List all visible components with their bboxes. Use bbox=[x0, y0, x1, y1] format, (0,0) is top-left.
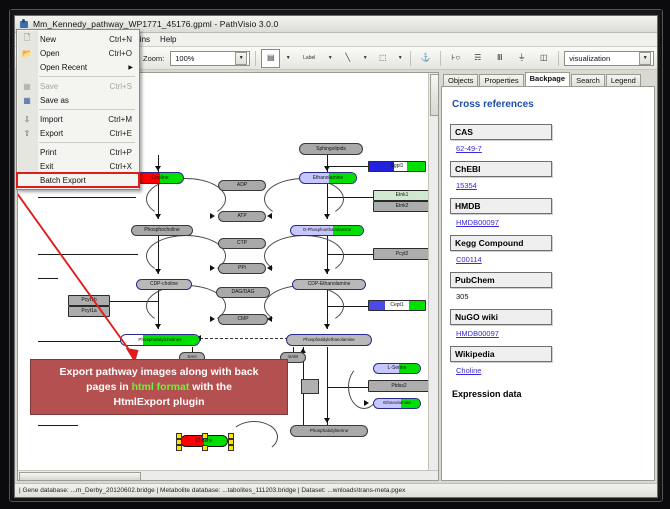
menu-item-exit-label: Exit bbox=[37, 162, 110, 171]
menu-item-save-as-label: Save as bbox=[37, 96, 132, 105]
node-phosphatidylethanolamine[interactable]: Phosphatidylethanolamine bbox=[286, 334, 372, 346]
reaction-curve bbox=[264, 235, 344, 277]
chevron-down-icon-2[interactable]: ▼ bbox=[639, 52, 651, 65]
zoom-combobox[interactable]: 100% ▼ bbox=[170, 51, 250, 66]
xref-value-pubchem: 305 bbox=[456, 292, 646, 301]
arrow-icon bbox=[155, 166, 161, 171]
edge-line bbox=[38, 341, 122, 342]
save-as-icon: ▦ bbox=[17, 96, 37, 105]
scrollbar-thumb-h[interactable] bbox=[19, 472, 141, 481]
selection-handle[interactable] bbox=[202, 445, 208, 451]
menu-item-import-label: Import bbox=[37, 115, 108, 124]
edge-line-dashed bbox=[200, 338, 288, 339]
import-icon: ⇩ bbox=[17, 115, 37, 124]
xref-label-cas: CAS bbox=[450, 124, 552, 140]
menu-item-export-label: Export bbox=[37, 129, 110, 138]
reaction-curve bbox=[264, 285, 344, 327]
menu-item-new-accel: Ctrl+N bbox=[109, 35, 139, 44]
xref-label-wikipedia: Wikipedia bbox=[450, 346, 552, 362]
gene-sgpl1[interactable]: Sgpl1 bbox=[368, 161, 426, 172]
xref-label-hmdb: HMDB bbox=[450, 198, 552, 214]
menu-item-print-accel: Ctrl+P bbox=[110, 148, 139, 157]
arrow-icon bbox=[364, 400, 369, 406]
menu-item-open-accel: Ctrl+O bbox=[109, 49, 139, 58]
arrow-icon bbox=[324, 269, 330, 274]
tab-backpage[interactable]: Backpage bbox=[525, 72, 570, 86]
menu-item-open-label: Open bbox=[37, 49, 109, 58]
xref-value-nugo-wiki[interactable]: HMDB00097 bbox=[456, 329, 646, 338]
gene-etnk1[interactable]: Etnk1 bbox=[373, 190, 431, 201]
menu-item-open-recent-label: Open Recent bbox=[37, 63, 128, 72]
new-file-icon: 🗋 bbox=[17, 32, 37, 46]
gene-product-dropdown[interactable]: ▼ bbox=[283, 49, 293, 68]
menu-item-exit-accel: Ctrl+X bbox=[110, 162, 139, 171]
gene-cept1[interactable]: Cept1 bbox=[368, 300, 426, 311]
status-bar: | Gene database: ...m_Derby_20120602.bri… bbox=[15, 483, 657, 497]
node-cmp[interactable]: CMP bbox=[218, 314, 268, 325]
node-phosphatidylserine[interactable]: Phosphatidylserine bbox=[290, 425, 368, 437]
arrow-icon bbox=[267, 213, 272, 219]
xref-value-wikipedia[interactable]: Choline bbox=[456, 366, 646, 375]
node-cdp-choline[interactable]: CDP-choline bbox=[136, 279, 192, 290]
menu-item-save-label: Save bbox=[37, 82, 110, 91]
window-frame: Mm_Kennedy_pathway_WP1771_45176.gpml - P… bbox=[9, 9, 663, 502]
export-icon: ⇧ bbox=[17, 129, 37, 138]
xref-label-pubchem: PubChem bbox=[450, 272, 552, 288]
edge-line bbox=[327, 166, 369, 167]
menu-item-print[interactable]: Print Ctrl+P bbox=[17, 145, 139, 159]
menu-item-new-label: New bbox=[37, 35, 109, 44]
annotation-line-2-post: with the bbox=[189, 381, 232, 393]
pathvisio-window: Mm_Kennedy_pathway_WP1771_45176.gpml - P… bbox=[14, 15, 658, 498]
toolbar-separator-2 bbox=[410, 51, 411, 66]
selection-handle[interactable] bbox=[228, 445, 234, 451]
menu-item-export-accel: Ctrl+E bbox=[110, 129, 139, 138]
zoom-value: 100% bbox=[175, 54, 194, 63]
menu-item-export[interactable]: ⇧ Export Ctrl+E bbox=[17, 126, 139, 140]
line-tool[interactable]: ╲ bbox=[338, 49, 357, 68]
node-o-phosphoethanolamine[interactable]: O-Phosphoethanolamine bbox=[290, 225, 364, 236]
node-l-serine[interactable]: L-Serine bbox=[373, 363, 421, 374]
selected-node-choline[interactable]: Choline bbox=[176, 433, 232, 449]
side-panel: Objects Properties Backpage Search Legen… bbox=[441, 72, 655, 481]
menu-separator-2 bbox=[39, 109, 135, 110]
menu-item-batch-export[interactable]: Batch Export bbox=[17, 173, 139, 187]
node-sphingolipids[interactable]: Sphingolipids bbox=[299, 143, 363, 155]
xref-value-chebi[interactable]: 15354 bbox=[456, 181, 646, 190]
arrow-icon bbox=[210, 316, 215, 322]
edge-line bbox=[327, 347, 328, 425]
edge-line bbox=[38, 425, 78, 426]
menu-item-open[interactable]: 📂 Open Ctrl+O bbox=[17, 46, 139, 60]
visualization-value: visualization bbox=[569, 54, 610, 63]
arrow-icon bbox=[324, 166, 330, 171]
arrow-icon bbox=[155, 214, 161, 219]
gene-pcyt2[interactable]: Pcyt2 bbox=[373, 248, 431, 260]
annotation-line-2-pre: pages in bbox=[86, 381, 132, 393]
line-dropdown[interactable]: ▼ bbox=[360, 49, 370, 68]
file-menu-popup[interactable]: 🗋 New Ctrl+N 📂 Open Ctrl+O Open Recent ▶… bbox=[16, 29, 140, 190]
selection-handle[interactable] bbox=[176, 445, 182, 451]
toolbar-separator bbox=[255, 51, 256, 66]
menu-item-save-accel: Ctrl+S bbox=[110, 82, 139, 91]
align-center-tool[interactable]: ☴ bbox=[468, 49, 487, 68]
order-tool[interactable]: ◫ bbox=[534, 49, 553, 68]
menu-item-import-accel: Ctrl+M bbox=[108, 115, 139, 124]
xref-label-kegg-compound: Kegg Compound bbox=[450, 235, 552, 251]
xref-label-nugo-wiki: NuGO wiki bbox=[450, 309, 552, 325]
menu-item-save-as[interactable]: ▦ Save as bbox=[17, 93, 139, 107]
xref-label-chebi: ChEBI bbox=[450, 161, 552, 177]
window-title: Mm_Kennedy_pathway_WP1771_45176.gpml - P… bbox=[33, 19, 278, 29]
chevron-down-icon[interactable]: ▼ bbox=[235, 52, 247, 65]
node-ppi[interactable]: PPi bbox=[218, 263, 266, 274]
reaction-curve bbox=[230, 421, 278, 453]
menu-item-new[interactable]: 🗋 New Ctrl+N bbox=[17, 32, 139, 46]
gene-fill-right bbox=[409, 301, 425, 310]
reaction-curve bbox=[264, 178, 344, 220]
anchor-node[interactable] bbox=[301, 379, 319, 394]
folder-open-icon: 📂 bbox=[17, 49, 37, 58]
node-ethanolamine[interactable]: Ethanolamine bbox=[299, 172, 357, 184]
node-phosphocholine[interactable]: Phosphocholine bbox=[131, 225, 193, 236]
gene-fill-right bbox=[407, 162, 425, 171]
menu-help[interactable]: Help bbox=[155, 33, 181, 46]
arrow-icon bbox=[155, 324, 161, 329]
menu-item-import[interactable]: ⇩ Import Ctrl+M bbox=[17, 112, 139, 126]
annotation-highlight: html format bbox=[132, 381, 190, 393]
xref-value-cas[interactable]: 62-49-7 bbox=[456, 144, 646, 153]
edge-line bbox=[38, 254, 138, 255]
annotation-line-1: Export pathway images along with back bbox=[39, 365, 279, 380]
gene-product-tool[interactable]: ▤ bbox=[261, 49, 280, 68]
expression-data-heading: Expression data bbox=[452, 389, 646, 399]
menu-separator-3 bbox=[39, 142, 135, 143]
gene-ptdss2[interactable]: Ptdss2 bbox=[368, 380, 430, 392]
side-panel-tabs: Objects Properties Backpage Search Legen… bbox=[441, 72, 655, 86]
visualization-combobox[interactable]: visualization ▼ bbox=[564, 51, 654, 66]
label-tool[interactable]: Label bbox=[296, 49, 322, 68]
node-adp[interactable]: ADP bbox=[218, 180, 266, 191]
gene-pcyt1a[interactable]: Pcyt1a bbox=[68, 306, 110, 317]
node-dag[interactable]: DAG/DAG bbox=[216, 287, 270, 298]
toolbar-separator-3 bbox=[440, 51, 441, 66]
canvas-vertical-scrollbar[interactable] bbox=[428, 73, 438, 480]
edge-line bbox=[38, 197, 136, 198]
edge-line bbox=[38, 278, 58, 279]
arrow-icon bbox=[210, 265, 215, 271]
arrow-icon bbox=[210, 213, 215, 219]
arrow-icon bbox=[267, 265, 272, 271]
node-atp[interactable]: ATP bbox=[218, 211, 266, 222]
annotation-callout: Export pathway images along with back pa… bbox=[30, 359, 288, 415]
node-phosphatidylcholines[interactable]: Phosphatidylcholines bbox=[120, 334, 200, 346]
annotation-line-2: pages in html format with the bbox=[39, 380, 279, 395]
canvas-horizontal-scrollbar[interactable] bbox=[18, 470, 438, 480]
submenu-arrow-icon: ▶ bbox=[128, 64, 139, 71]
stack-tool[interactable]: ⏚ bbox=[512, 49, 531, 68]
node-cdp-ethanolamine[interactable]: CDP-Ethanolamine bbox=[292, 279, 366, 290]
distribute-tool[interactable]: Ⅲ bbox=[490, 49, 509, 68]
save-icon: ▦ bbox=[17, 82, 37, 91]
screenshot-root: Mm_Kennedy_pathway_WP1771_45176.gpml - P… bbox=[0, 0, 670, 509]
anchor-tool[interactable]: ⚓ bbox=[416, 49, 435, 68]
menu-item-print-label: Print bbox=[37, 148, 110, 157]
shape-dropdown[interactable]: ▼ bbox=[395, 49, 405, 68]
menu-item-save: ▦ Save Ctrl+S bbox=[17, 79, 139, 93]
menu-item-exit[interactable]: Exit Ctrl+X bbox=[17, 159, 139, 173]
label-dropdown[interactable]: ▼ bbox=[325, 49, 335, 68]
annotation-line-3: HtmlExport plugin bbox=[39, 395, 279, 410]
toolbar-separator-4 bbox=[558, 51, 559, 66]
node-ctp[interactable]: CTP bbox=[218, 238, 266, 249]
node-ethanolamine-2[interactable]: Ethanolamine bbox=[373, 398, 421, 409]
shape-tool[interactable]: ⬚ bbox=[373, 49, 392, 68]
scrollbar-thumb[interactable] bbox=[430, 74, 439, 116]
align-left-tool[interactable]: ⊦○ bbox=[446, 49, 465, 68]
status-bar-text: | Gene database: ...m_Derby_20120602.bri… bbox=[19, 487, 405, 494]
node-choline[interactable]: Choline bbox=[136, 172, 184, 184]
cross-references-heading: Cross references bbox=[452, 99, 646, 110]
xref-value-hmdb[interactable]: HMDB00097 bbox=[456, 218, 646, 227]
gene-pcyt1b[interactable]: Pcyt1b bbox=[68, 295, 110, 306]
menu-item-open-recent[interactable]: Open Recent ▶ bbox=[17, 60, 139, 74]
arrow-icon bbox=[324, 418, 330, 423]
zoom-label: Zoom: bbox=[143, 54, 164, 63]
arrow-icon bbox=[155, 269, 161, 274]
arrow-icon bbox=[324, 324, 330, 329]
gene-etnk2[interactable]: Etnk2 bbox=[373, 201, 431, 212]
backpage-content: Cross references CAS 62-49-7 ChEBI 15354… bbox=[441, 86, 655, 481]
gene-fill-left bbox=[369, 301, 385, 310]
xref-value-kegg-compound[interactable]: C00114 bbox=[456, 255, 646, 264]
pathvisio-icon bbox=[19, 19, 29, 29]
menu-separator-1 bbox=[39, 76, 135, 77]
menu-item-batch-export-label: Batch Export bbox=[37, 176, 139, 185]
arrow-icon bbox=[324, 214, 330, 219]
